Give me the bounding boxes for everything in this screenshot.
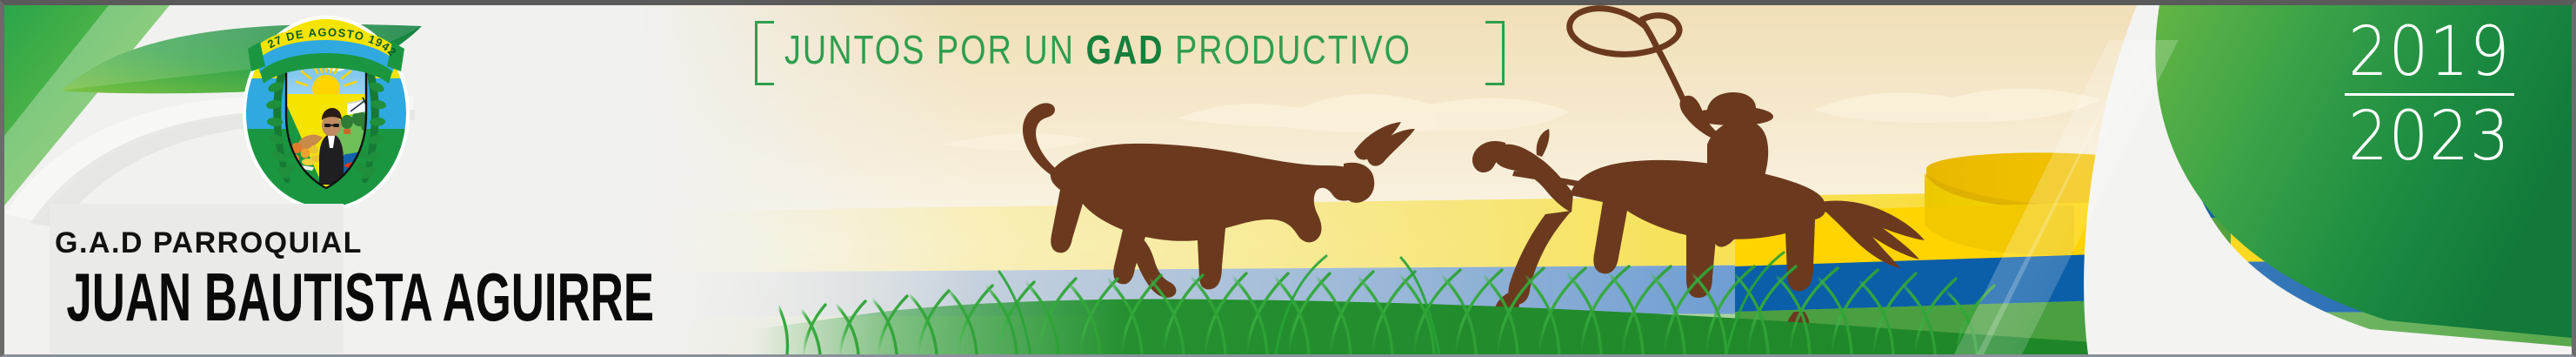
tagline-block: JUNTOS POR UN GAD PRODUCTIVO (748, 17, 1522, 85)
institution-title-block: G.A.D PARROQUIAL JUAN BAUTISTA AGUIRRE (4, 204, 344, 354)
tagline-text: JUNTOS POR UN GAD PRODUCTIVO (784, 26, 1411, 73)
institution-line1: G.A.D PARROQUIAL (55, 226, 342, 260)
year-divider (2345, 93, 2514, 96)
banner-stage: JUNTOS POR UN GAD PRODUCTIVO 2019 2023 (4, 5, 2572, 354)
institutional-banner: JUNTOS POR UN GAD PRODUCTIVO 2019 2023 (0, 0, 2576, 357)
term-start-year: 2019 (2349, 16, 2511, 89)
tagline-after: PRODUCTIVO (1165, 27, 1412, 72)
institution-line2: JUAN BAUTISTA AGUIRRE (66, 263, 312, 331)
tagline-before: JUNTOS POR UN (784, 27, 1086, 72)
bracket-right-icon (1485, 21, 1505, 85)
coat-of-arms: 27 DE AGOSTO 1942 (234, 10, 418, 212)
term-years: 2019 2023 (2341, 16, 2518, 173)
tagline-accent: GAD (1086, 27, 1165, 72)
bracket-left-icon (755, 21, 774, 85)
term-end-year: 2023 (2349, 100, 2511, 173)
